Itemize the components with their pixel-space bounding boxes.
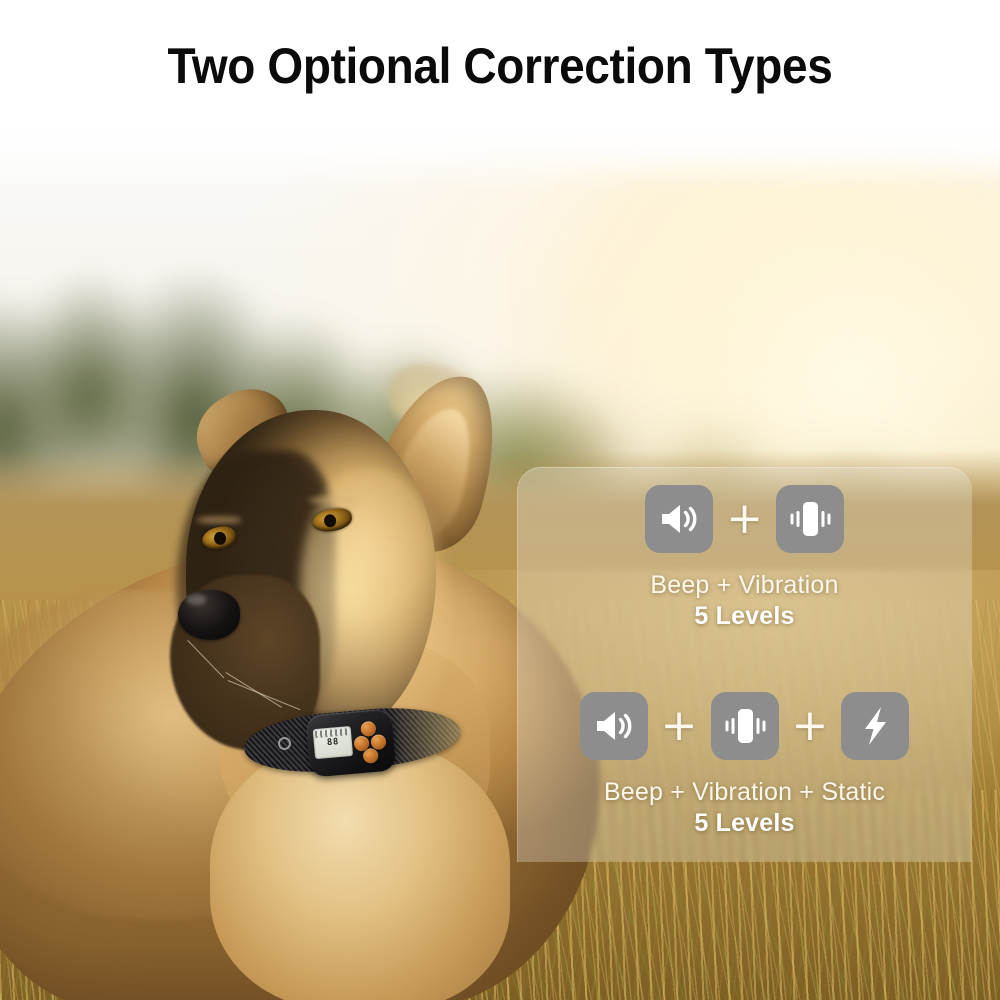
icon-row-2: + + [517, 692, 972, 760]
mode-caption-1: Beep + Vibration [517, 570, 972, 601]
speaker-icon[interactable] [580, 692, 648, 760]
collar-light-highlight [387, 702, 462, 766]
correction-mode-row-2: + + Beep + Vibration + Static 5 Levels [517, 692, 972, 839]
lcd-digits: 88 [317, 737, 350, 757]
header-band: Two Optional Correction Types [0, 0, 1000, 124]
icon-row-1: + [517, 485, 972, 553]
page-title: Two Optional Correction Types [40, 38, 960, 94]
dog-brow-left [196, 516, 242, 524]
product-feature-image: Two Optional Correction Types [0, 0, 1000, 1000]
device-right-arrow-button[interactable] [370, 734, 386, 750]
device-lcd-screen: 88 [313, 726, 353, 759]
dog-nose-highlight [186, 594, 206, 605]
speaker-icon[interactable] [645, 485, 713, 553]
plus-separator: + [726, 497, 763, 541]
bark-control-collar-device: 88 [305, 708, 396, 777]
correction-mode-row-1: + Beep + Vibration 5 Levels [517, 485, 972, 632]
plus-separator: + [792, 704, 829, 748]
dog-chest [210, 740, 510, 1000]
plus-separator: + [661, 704, 698, 748]
mode-caption-2: Beep + Vibration + Static [517, 777, 972, 808]
mode-levels-1: 5 Levels [517, 601, 972, 632]
mode-levels-2: 5 Levels [517, 808, 972, 839]
lightning-bolt-icon[interactable] [841, 692, 909, 760]
dog-pupil-left [213, 531, 227, 546]
dog-brow-right [308, 496, 362, 504]
vibration-icon[interactable] [776, 485, 844, 553]
vibration-icon[interactable] [711, 692, 779, 760]
dog-pupil-right [323, 514, 337, 529]
